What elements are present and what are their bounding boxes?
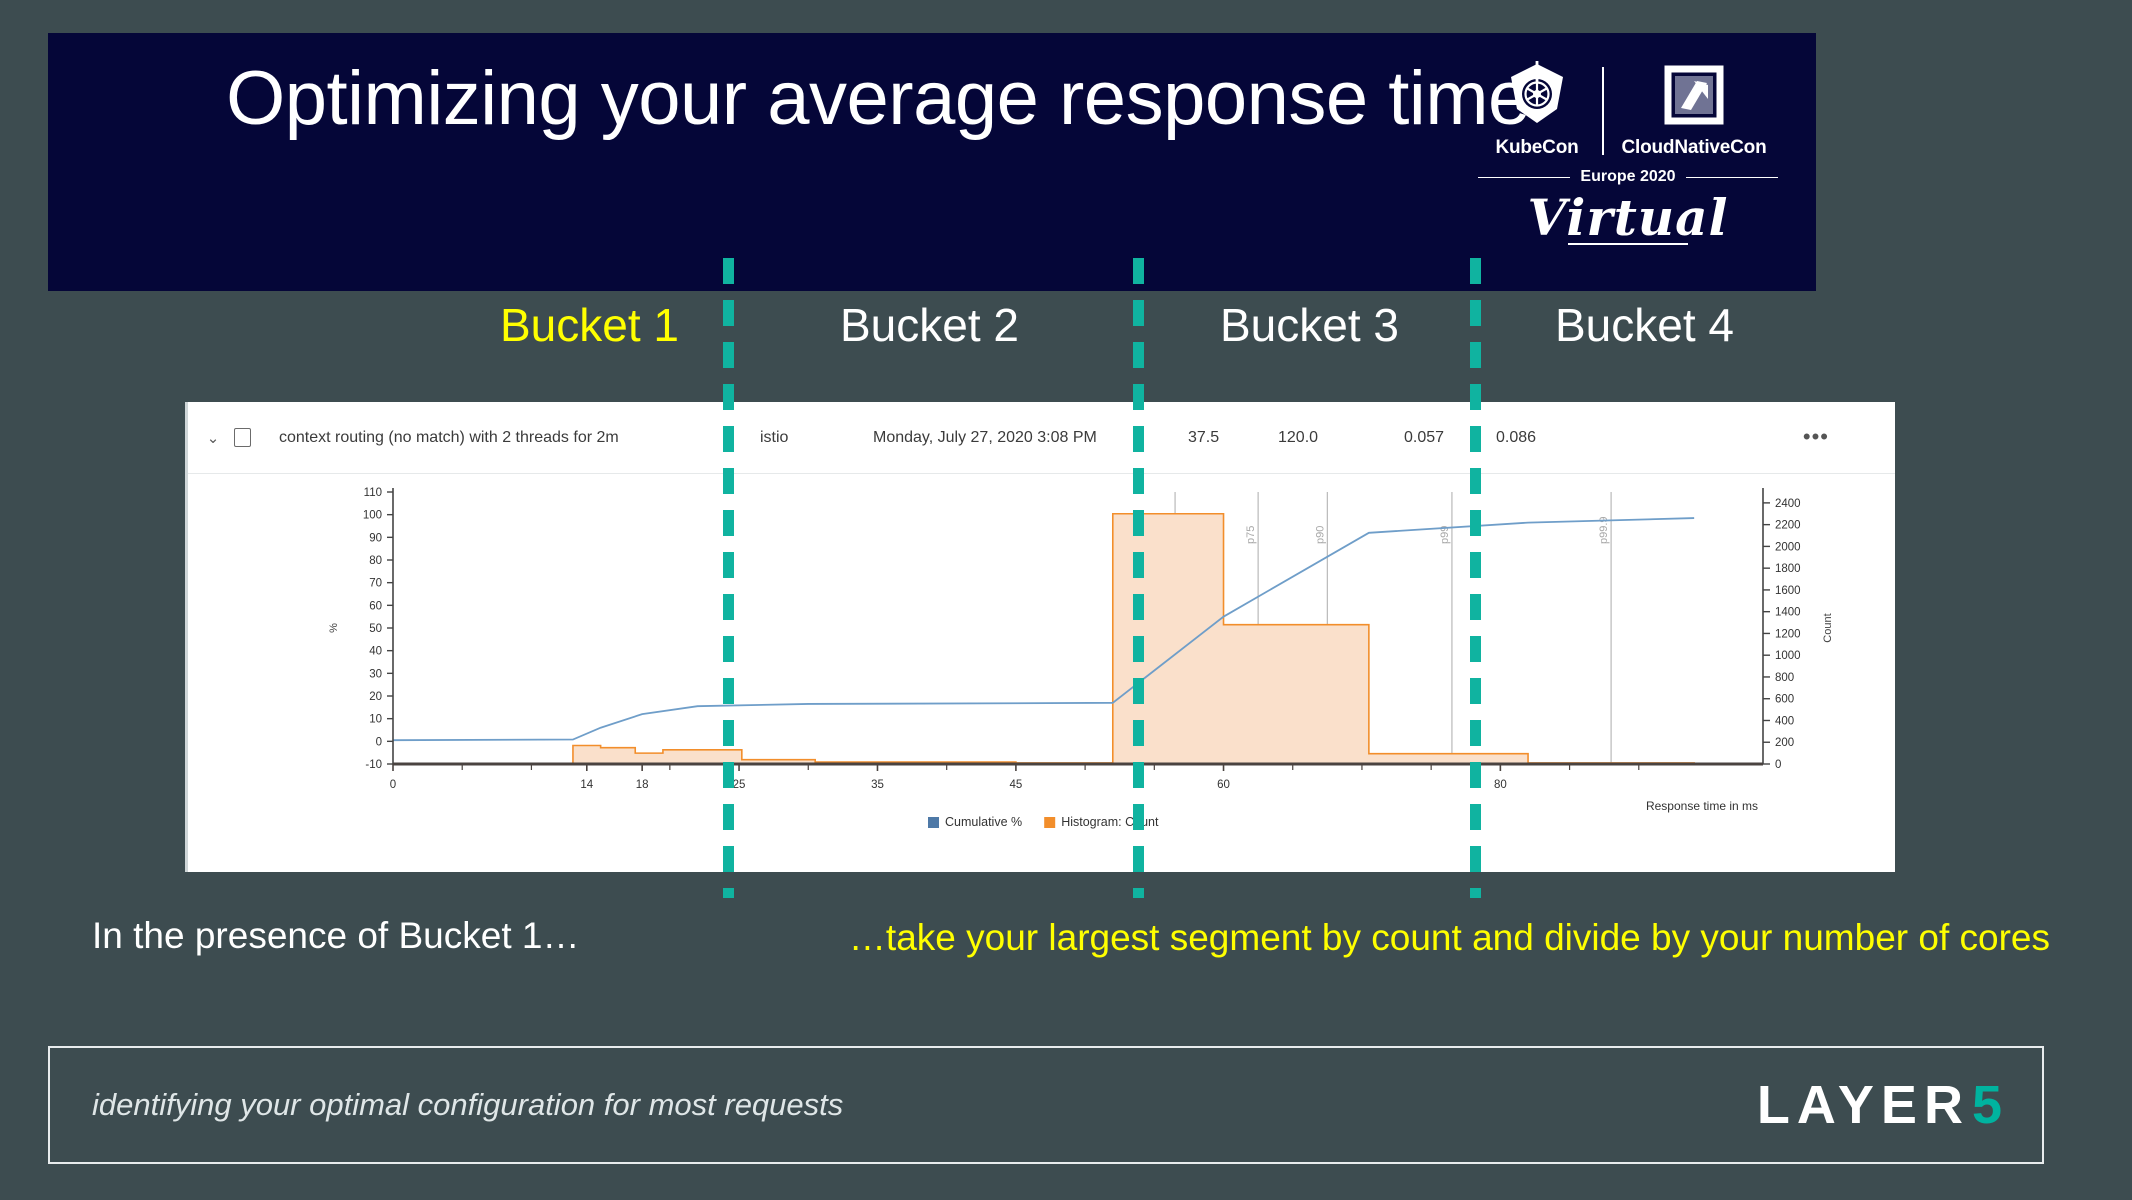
kubecon-label: KubeCon [1495,137,1578,159]
footer-caption: identifying your optimal configuration f… [92,1087,843,1123]
footer-bar: identifying your optimal configuration f… [48,1046,2044,1164]
svg-text:0: 0 [376,736,382,748]
svg-text:100: 100 [363,510,382,522]
bucket-label-1: Bucket 1 [500,298,679,352]
svg-text:2200: 2200 [1775,520,1801,532]
svg-text:200: 200 [1775,737,1794,749]
cncf-cube-icon [1664,65,1724,132]
cloudnativecon-label: CloudNativeCon [1622,137,1767,159]
logo-divider [1602,67,1604,155]
edition-rule-right [1686,177,1778,178]
result-row-header[interactable]: ⌄ context routing (no match) with 2 thre… [188,402,1895,474]
svg-text:10: 10 [369,714,382,726]
svg-text:60: 60 [369,600,382,612]
row-checkbox[interactable] [234,428,251,447]
chart-svg: p50p75p90p99p99.9-1001020304050607080901… [188,474,1898,872]
svg-text:20: 20 [369,691,382,703]
svg-text:800: 800 [1775,672,1794,684]
slide-root: Optimizing your average response time [0,0,2132,1200]
performance-result-card: ⌄ context routing (no match) with 2 thre… [185,402,1895,872]
run-name-label: context routing (no match) with 2 thread… [279,429,619,447]
metric-3-value: 0.057 [1404,429,1444,447]
bucket-label-3: Bucket 3 [1220,298,1399,352]
svg-text:1600: 1600 [1775,585,1801,597]
svg-text:1800: 1800 [1775,563,1801,575]
logo-edition-row: Europe 2020 [1478,168,1778,186]
layer5-wordmark: LAYER [1757,1074,1970,1136]
svg-text:60: 60 [1217,779,1230,791]
svg-text:Response time in ms: Response time in ms [1646,799,1758,813]
svg-text:p90: p90 [1314,526,1326,544]
logo-virtual-label: Virtual [1478,188,1778,247]
svg-text:70: 70 [369,578,382,590]
svg-text:45: 45 [1009,779,1022,791]
metric-2-value: 120.0 [1278,429,1318,447]
svg-text:2400: 2400 [1775,498,1801,510]
bucket-label-4: Bucket 4 [1555,298,1734,352]
svg-text:-10: -10 [365,759,382,771]
svg-text:80: 80 [369,555,382,567]
bucket-divider-2 [1133,258,1144,898]
page-title: Optimizing your average response time [108,61,1648,137]
svg-text:18: 18 [636,779,649,791]
svg-text:%: % [328,623,340,633]
svg-text:Histogram: Count: Histogram: Count [1061,815,1159,829]
svg-text:1200: 1200 [1775,628,1801,640]
svg-text:p75: p75 [1245,526,1257,544]
svg-text:0: 0 [1775,759,1781,771]
svg-text:40: 40 [369,646,382,658]
svg-text:14: 14 [580,779,593,791]
chevron-down-icon[interactable]: ⌄ [200,429,226,447]
svg-text:30: 30 [369,668,382,680]
svg-text:2000: 2000 [1775,541,1801,553]
svg-text:Count: Count [1822,613,1834,642]
svg-text:50: 50 [369,623,382,635]
bucket-label-row: Bucket 1 Bucket 2 Bucket 3 Bucket 4 [0,298,2132,370]
svg-text:600: 600 [1775,694,1794,706]
overflow-menu-icon[interactable]: ••• [1803,424,1829,450]
svg-text:1000: 1000 [1775,650,1801,662]
layer5-logo: LAYER 5 [1757,1074,2002,1136]
bucket-divider-1 [723,258,734,898]
timestamp-label: Monday, July 27, 2020 3:08 PM [873,429,1097,447]
kubernetes-helm-icon [1505,61,1569,132]
mesh-label: istio [760,429,788,447]
kubecon-logo-block: KubeCon [1482,61,1592,159]
svg-text:400: 400 [1775,715,1794,727]
kubecon-cloudnativecon-logo: KubeCon CloudNativeCon [1478,49,1778,271]
svg-text:0: 0 [390,779,396,791]
svg-text:Cumulative %: Cumulative % [945,815,1022,829]
svg-text:110: 110 [364,487,382,499]
caption-right: …take your largest segment by count and … [800,915,2050,962]
metric-1-value: 37.5 [1188,429,1219,447]
svg-text:1400: 1400 [1775,607,1801,619]
title-banner: Optimizing your average response time [48,33,1816,291]
bucket-label-2: Bucket 2 [840,298,1019,352]
layer5-five-glyph: 5 [1972,1074,2002,1136]
bucket-divider-3 [1470,258,1481,898]
svg-text:80: 80 [1494,779,1507,791]
svg-text:90: 90 [369,532,382,544]
caption-left: In the presence of Bucket 1… [92,915,792,957]
edition-rule-left [1478,177,1570,178]
cloudnativecon-logo-block: CloudNativeCon [1614,65,1774,159]
latency-histogram-chart: p50p75p90p99p99.9-1001020304050607080901… [188,474,1895,872]
metric-4-value: 0.086 [1496,429,1536,447]
svg-text:35: 35 [871,779,884,791]
logo-edition-label: Europe 2020 [1580,168,1675,186]
svg-text:25: 25 [733,779,746,791]
